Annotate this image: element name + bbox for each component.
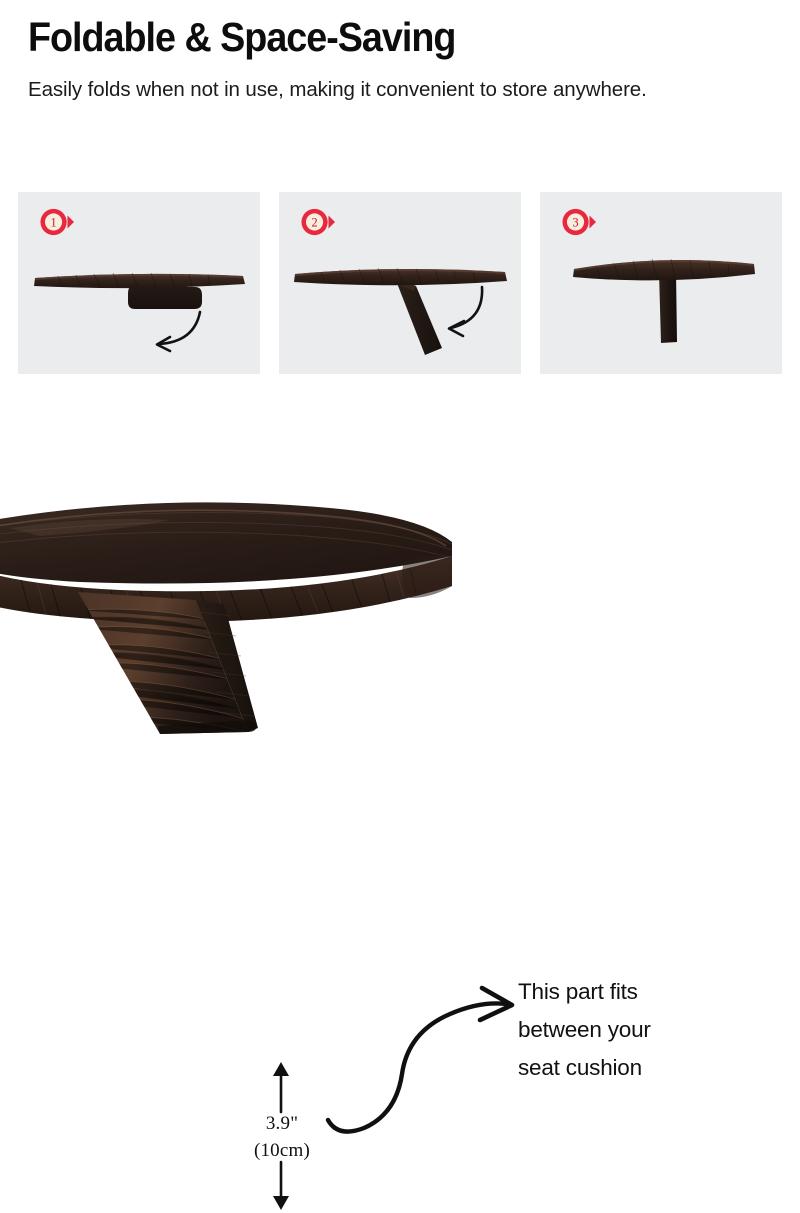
tray-edge-view [573, 259, 755, 280]
fold-direction-arrow [157, 312, 200, 351]
tray-top-surface [0, 502, 452, 583]
header: Foldable & Space-Saving Easily folds whe… [28, 14, 772, 105]
vertical-leg [659, 272, 677, 343]
tray-edge-view [34, 273, 245, 288]
product-photo [0, 470, 470, 770]
callout-line-2: between your [518, 1011, 780, 1049]
hero-section: 3.9" (10cm) This part fits between your … [0, 470, 800, 800]
step-badge-3-number: 3 [572, 216, 578, 230]
step-badge-2-number: 2 [311, 216, 317, 230]
step-badge-3: 3 [560, 204, 596, 240]
step-panel-1: 1 [18, 192, 260, 374]
step-panel-2: 2 [279, 192, 521, 374]
callout-text: This part fits between your seat cushion [518, 973, 780, 1087]
step-badge-1-number: 1 [50, 216, 56, 230]
step-badge-2: 2 [299, 204, 335, 240]
dimension-arrowhead-down [273, 1196, 289, 1210]
tray-edge-view [294, 268, 507, 285]
step-badge-1: 1 [38, 204, 74, 240]
fold-direction-arrow [449, 287, 482, 336]
folded-leg [128, 287, 202, 309]
step-panel-3: 3 [540, 192, 782, 374]
page-title: Foldable & Space-Saving [28, 14, 712, 60]
dimension-arrowhead-up [273, 1062, 289, 1076]
angled-leg [394, 278, 442, 355]
steps-strip: 1 [18, 192, 782, 374]
callout-arrow [310, 970, 530, 1150]
callout-line-3: seat cushion [518, 1049, 780, 1087]
callout-line-1: This part fits [518, 973, 780, 1011]
dimension-indicator: 3.9" (10cm) [246, 1058, 316, 1213]
page-subtitle: Easily folds when not in use, making it … [28, 74, 728, 105]
